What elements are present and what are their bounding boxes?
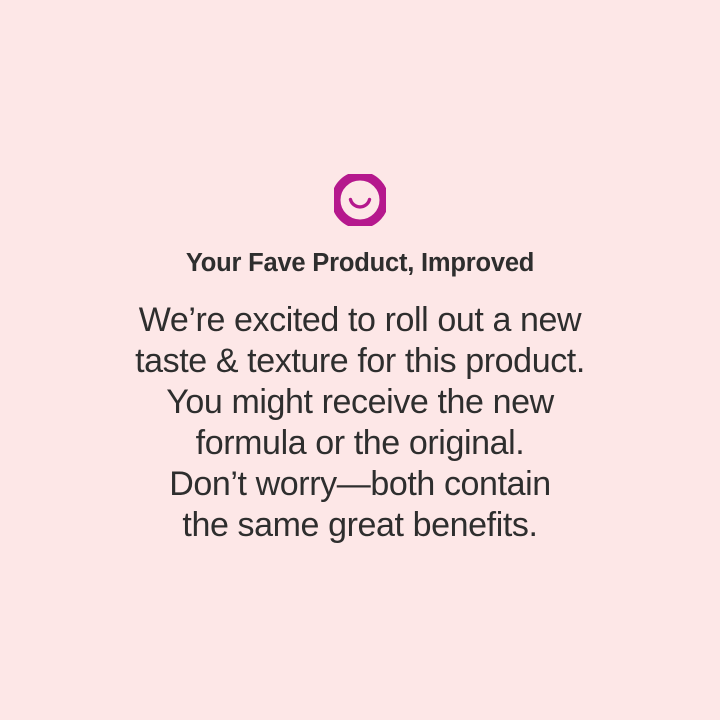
body-line: formula or the original. <box>50 423 670 464</box>
body-line: You might receive the new <box>50 382 670 423</box>
brand-logo-container <box>0 174 720 226</box>
body-line: taste & texture for this product. <box>50 341 670 382</box>
smiley-ring-logo-icon <box>334 174 386 226</box>
page-title: Your Fave Product, Improved <box>0 248 720 280</box>
body-line: We’re excited to roll out a new <box>50 300 670 341</box>
product-notice-card: Your Fave Product, Improved We’re excite… <box>0 0 720 720</box>
body-line: Don’t worry—both contain <box>50 464 670 505</box>
body-line: the same great benefits. <box>50 505 670 546</box>
body-copy: We’re excited to roll out a new taste & … <box>50 300 670 546</box>
